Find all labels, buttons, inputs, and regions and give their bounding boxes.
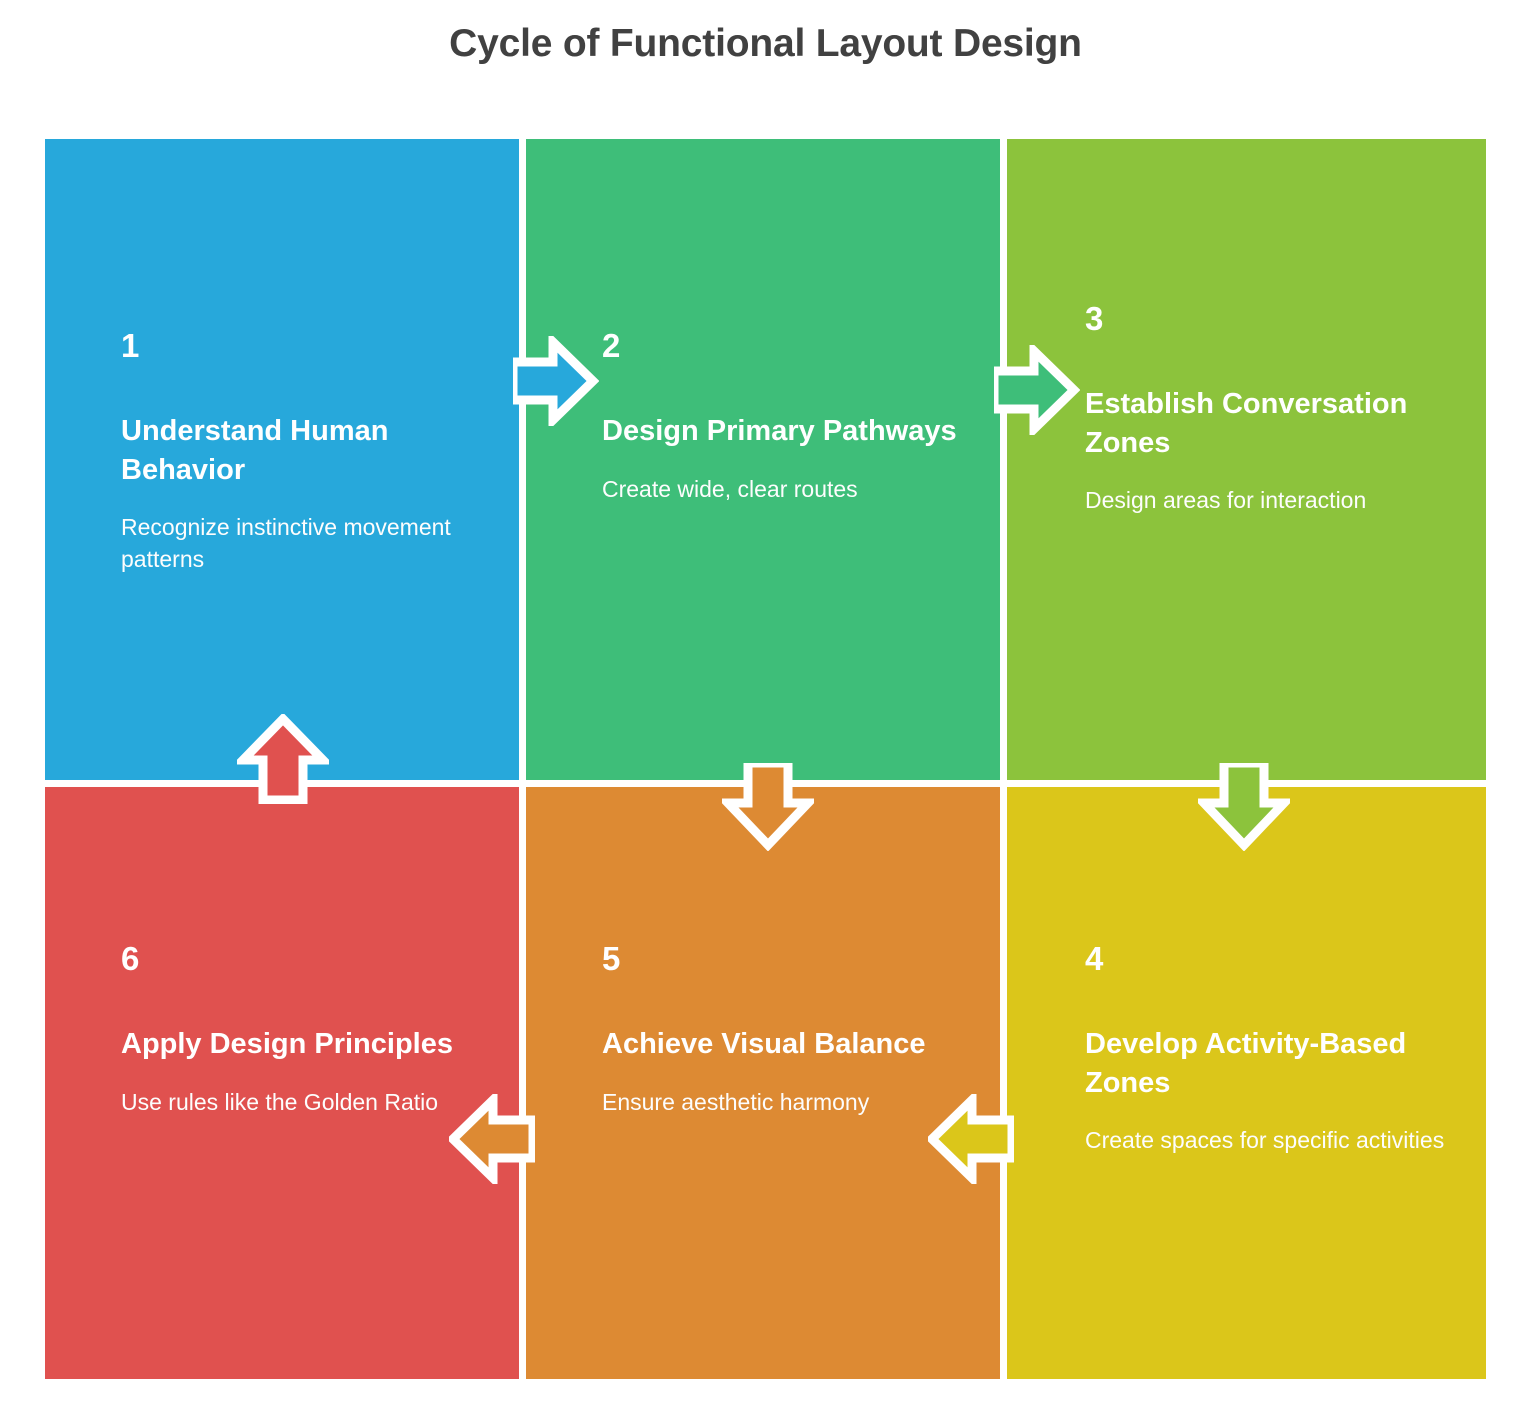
- step-description-3: Design areas for interaction: [1085, 485, 1426, 517]
- step-description-6: Use rules like the Golden Ratio: [121, 1087, 489, 1119]
- step-card-3[interactable]: 3 Establish Conversation Zones Design ar…: [1007, 139, 1486, 780]
- step-number-2: 2: [602, 329, 970, 362]
- step-card-2[interactable]: 2 Design Primary Pathways Create wide, c…: [526, 139, 1000, 780]
- step-description-1: Recognize instinctive movement patterns: [121, 512, 489, 575]
- step-number-5: 5: [602, 942, 970, 975]
- step-heading-2: Design Primary Pathways: [602, 412, 970, 451]
- step-heading-3: Establish Conversation Zones: [1085, 385, 1426, 462]
- step-description-4: Create spaces for specific activities: [1085, 1125, 1446, 1157]
- step-description-5: Ensure aesthetic harmony: [602, 1087, 970, 1119]
- step-card-1[interactable]: 1 Understand Human Behavior Recognize in…: [45, 139, 519, 780]
- diagram-canvas: Cycle of Functional Layout Design 1 Unde…: [0, 0, 1531, 1409]
- step-heading-6: Apply Design Principles: [121, 1025, 489, 1064]
- step-description-2: Create wide, clear routes: [602, 474, 970, 506]
- cycle-grid: 1 Understand Human Behavior Recognize in…: [45, 139, 1486, 1379]
- step-card-5[interactable]: 5 Achieve Visual Balance Ensure aestheti…: [526, 787, 1000, 1379]
- step-number-1: 1: [121, 329, 489, 362]
- step-number-3: 3: [1085, 302, 1426, 335]
- step-heading-4: Develop Activity-Based Zones: [1085, 1025, 1446, 1102]
- step-card-6[interactable]: 6 Apply Design Principles Use rules like…: [45, 787, 519, 1379]
- step-heading-1: Understand Human Behavior: [121, 412, 489, 489]
- step-number-6: 6: [121, 942, 489, 975]
- step-number-4: 4: [1085, 942, 1446, 975]
- step-heading-5: Achieve Visual Balance: [602, 1025, 970, 1064]
- page-title: Cycle of Functional Layout Design: [0, 22, 1531, 66]
- step-card-4[interactable]: 4 Develop Activity-Based Zones Create sp…: [1007, 787, 1486, 1379]
